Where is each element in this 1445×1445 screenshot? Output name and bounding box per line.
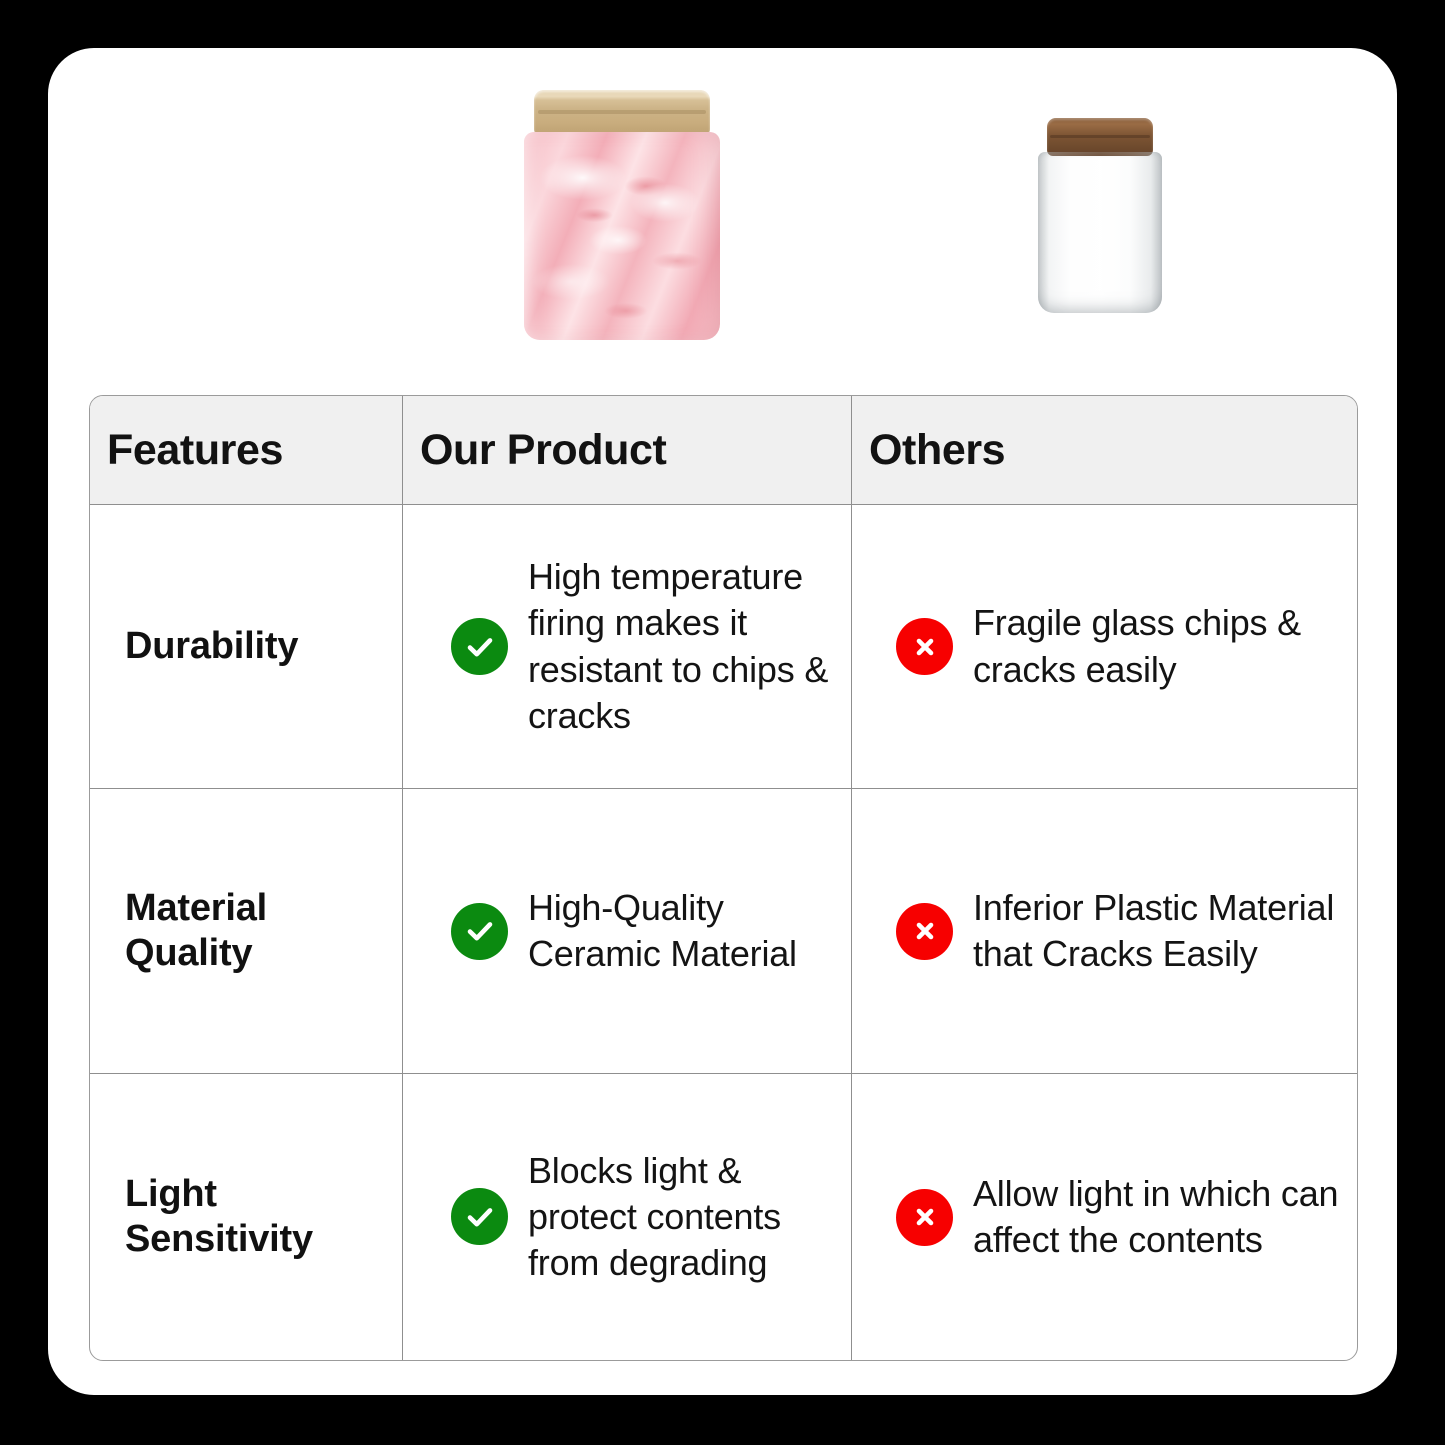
- value-text: Allow light in which can affect the cont…: [973, 1171, 1339, 1263]
- feature-label: Durability: [108, 624, 298, 669]
- header-cell-others: Others: [852, 396, 1357, 504]
- header-cell-features: Features: [90, 396, 403, 504]
- header-label-others: Others: [869, 426, 1005, 475]
- bamboo-lid: [534, 90, 710, 136]
- wooden-lid: [1047, 118, 1153, 156]
- table-header-row: Features Our Product Others: [90, 396, 1357, 505]
- header-label-features: Features: [107, 426, 283, 475]
- check-circle-icon: [451, 618, 508, 675]
- value-group: Fragile glass chips & cracks easily: [870, 600, 1339, 692]
- feature-cell-material-quality: Material Quality: [90, 789, 403, 1073]
- value-text: Fragile glass chips & cracks easily: [973, 600, 1339, 692]
- others-cell-durability: Fragile glass chips & cracks easily: [852, 505, 1357, 788]
- value-group: Blocks light & protect contents from deg…: [421, 1148, 833, 1286]
- pink-marble-jar-body: [524, 132, 720, 340]
- our-product-ceramic-jar-image: [524, 90, 720, 340]
- our-product-cell-material-quality: High-Quality Ceramic Material: [403, 789, 852, 1073]
- header-label-our-product: Our Product: [420, 426, 666, 475]
- table-row: Material Quality High-Quality Ceramic Ma…: [90, 789, 1357, 1074]
- feature-label: Material Quality: [108, 886, 384, 976]
- table-row: Light Sensitivity Blocks light & protect…: [90, 1074, 1357, 1360]
- x-circle-icon: [896, 618, 953, 675]
- header-cell-our-product: Our Product: [403, 396, 852, 504]
- comparison-table: Features Our Product Others Durability: [89, 395, 1358, 1361]
- check-circle-icon: [451, 1188, 508, 1245]
- glass-jar-body: [1038, 152, 1162, 313]
- value-text: Inferior Plastic Material that Cracks Ea…: [973, 885, 1339, 977]
- x-circle-icon: [896, 1189, 953, 1246]
- value-group: High-Quality Ceramic Material: [421, 885, 833, 977]
- value-text: Blocks light & protect contents from deg…: [528, 1148, 833, 1286]
- value-group: Allow light in which can affect the cont…: [870, 1171, 1339, 1263]
- others-cell-material-quality: Inferior Plastic Material that Cracks Ea…: [852, 789, 1357, 1073]
- x-circle-icon: [896, 903, 953, 960]
- feature-label: Light Sensitivity: [108, 1172, 384, 1262]
- others-glass-jar-image: [1038, 118, 1162, 313]
- check-circle-icon: [451, 903, 508, 960]
- feature-cell-durability: Durability: [90, 505, 403, 788]
- comparison-card: Features Our Product Others Durability: [48, 48, 1397, 1395]
- value-group: High temperature firing makes it resista…: [421, 554, 833, 738]
- value-text: High-Quality Ceramic Material: [528, 885, 833, 977]
- others-cell-light-sensitivity: Allow light in which can affect the cont…: [852, 1074, 1357, 1360]
- product-hero-images: [48, 48, 1397, 378]
- feature-cell-light-sensitivity: Light Sensitivity: [90, 1074, 403, 1360]
- value-group: Inferior Plastic Material that Cracks Ea…: [870, 885, 1339, 977]
- value-text: High temperature firing makes it resista…: [528, 554, 833, 738]
- table-row: Durability High temperature firing makes…: [90, 505, 1357, 789]
- our-product-cell-light-sensitivity: Blocks light & protect contents from deg…: [403, 1074, 852, 1360]
- our-product-cell-durability: High temperature firing makes it resista…: [403, 505, 852, 788]
